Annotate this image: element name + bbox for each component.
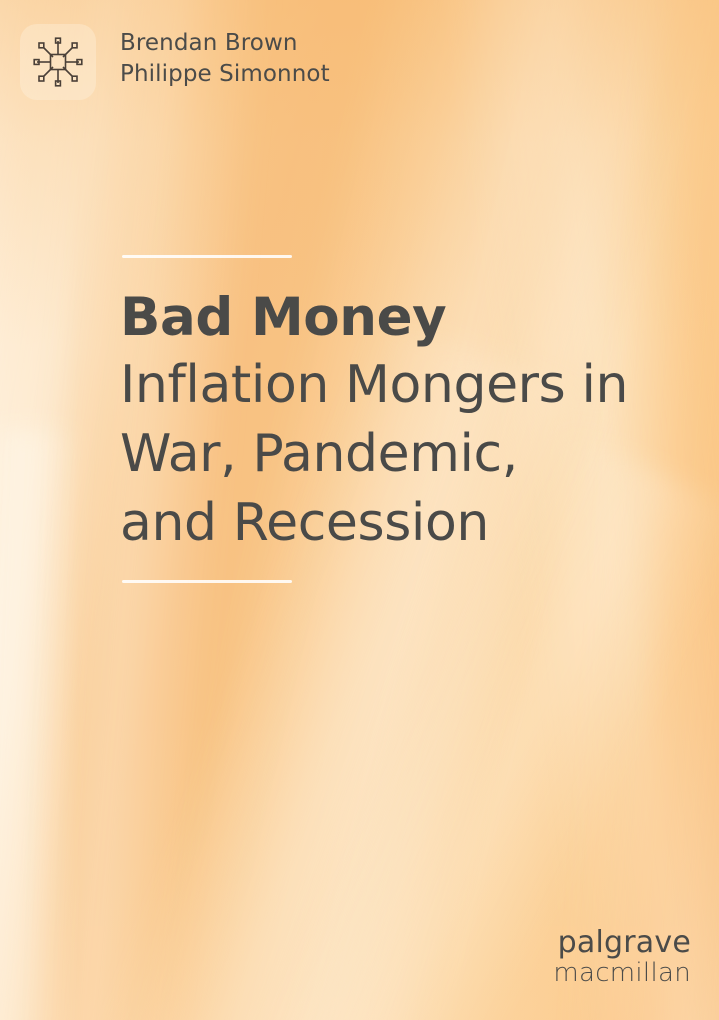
author-name: Brendan Brown xyxy=(120,28,330,59)
book-cover: Brendan Brown Philippe Simonnot Bad Mone… xyxy=(0,0,719,1020)
author-names: Brendan Brown Philippe Simonnot xyxy=(120,28,330,90)
title-rule-top xyxy=(122,255,292,258)
book-title: Bad Money xyxy=(120,284,695,351)
book-subtitle-line: and Recession xyxy=(120,489,695,558)
publisher-wordmark: palgrave macmillan xyxy=(553,927,691,988)
cover-content: Brendan Brown Philippe Simonnot Bad Mone… xyxy=(0,0,719,1020)
book-subtitle-line: Inflation Mongers in xyxy=(120,351,695,420)
title-rule-bottom xyxy=(122,580,292,583)
book-subtitle: Inflation Mongers in War, Pandemic, and … xyxy=(120,351,695,558)
author-name: Philippe Simonnot xyxy=(120,59,330,90)
publisher-imprint: macmillan xyxy=(553,959,691,988)
title-block: Bad Money Inflation Mongers in War, Pand… xyxy=(120,284,695,558)
publisher-name: palgrave xyxy=(553,927,691,959)
book-subtitle-line: War, Pandemic, xyxy=(120,420,695,489)
palgrave-starburst-icon xyxy=(28,32,88,92)
